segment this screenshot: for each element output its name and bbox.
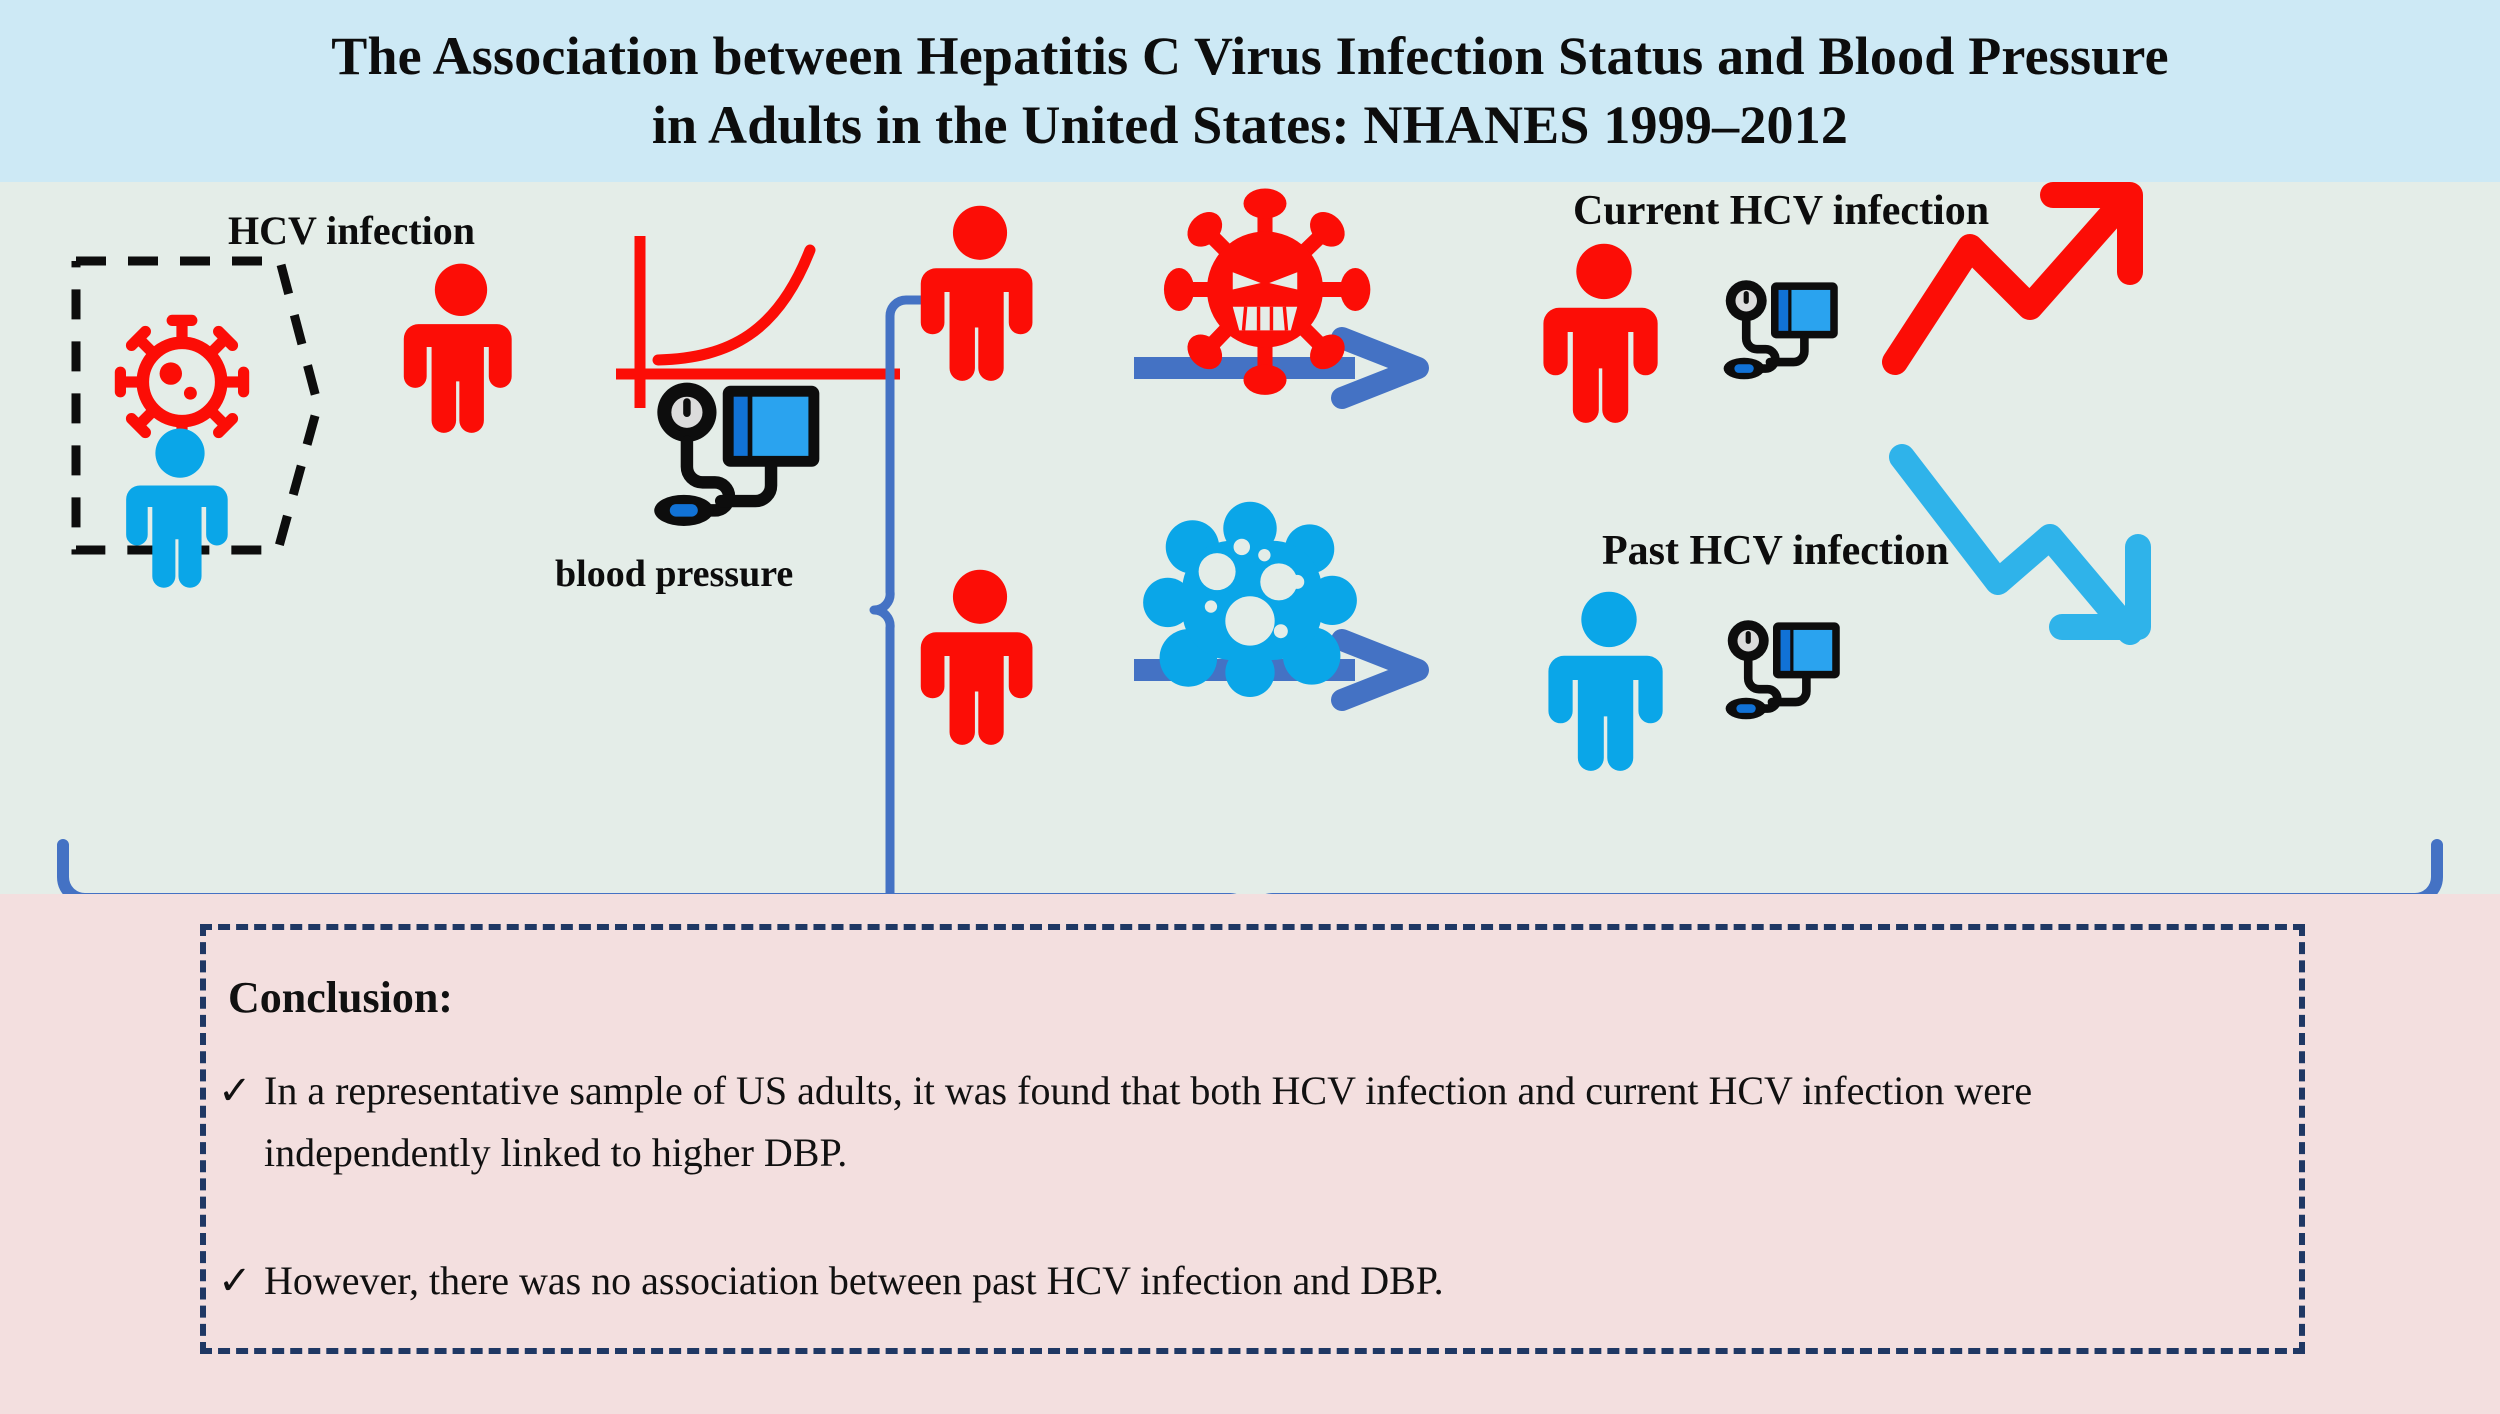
person-icon [920,204,1040,380]
blood-pressure-monitor-icon [1720,277,1850,389]
blood-pressure-label: blood pressure [555,552,793,596]
conclusion-bullet-text: However, there was no association betwee… [264,1250,1444,1312]
conclusion-bullet-text: In a representative sample of US adults,… [264,1060,2268,1184]
trend-down-arrow-icon [1880,427,2180,657]
title-band: The Association between Hepatitis C Viru… [0,0,2500,182]
graphical-abstract: The Association between Hepatitis C Viru… [0,0,2500,1414]
person-icon [125,427,235,587]
conclusion-area: Conclusion: ✓ In a representative sample… [0,894,2500,1414]
trend-up-arrow-icon [1875,167,2175,397]
blob-virus-icon [1130,512,1370,697]
check-icon: ✓ [218,1250,264,1312]
page-title-line-2: in Adults in the United States: NHANES 1… [652,91,1848,160]
person-icon [1543,242,1665,422]
conclusion-heading: Conclusion: [228,972,453,1023]
blood-pressure-monitor-icon [648,378,838,540]
conclusion-bullet: ✓ However, there was no association betw… [218,1250,2268,1312]
diagram-area: HCV infection [0,182,2500,894]
conclusion-bullet: ✓ In a representative sample of US adult… [218,1060,2268,1184]
person-icon [920,568,1040,744]
page-title-line-1: The Association between Hepatitis C Viru… [331,22,2169,91]
angry-virus-icon [1150,182,1380,397]
person-icon [402,262,520,432]
blood-pressure-monitor-icon [1722,617,1852,729]
person-icon [1548,590,1670,770]
hcv-infection-label: HCV infection [228,207,475,254]
conclusion-box: Conclusion: ✓ In a representative sample… [200,924,2305,1354]
check-icon: ✓ [218,1060,264,1122]
